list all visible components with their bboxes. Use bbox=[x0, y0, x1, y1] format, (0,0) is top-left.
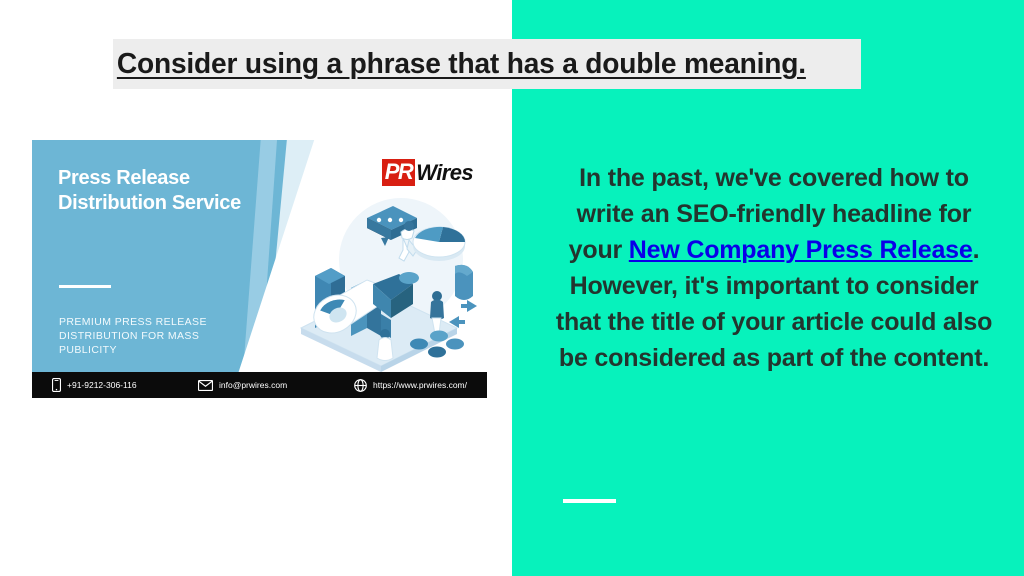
contact-email-text: info@prwires.com bbox=[219, 380, 287, 390]
body-paragraph: In the past, we've covered how to write … bbox=[548, 160, 1000, 376]
accent-divider bbox=[563, 499, 616, 503]
logo-wordmark: Wires bbox=[416, 162, 473, 184]
contact-phone: +91-9212-306-116 bbox=[52, 378, 137, 392]
banner-rule bbox=[59, 285, 111, 288]
slide-canvas: Consider using a phrase that has a doubl… bbox=[0, 0, 1024, 576]
megaphone-analytics-illustration bbox=[281, 188, 481, 372]
new-company-press-release-link[interactable]: New Company Press Release bbox=[629, 236, 973, 264]
press-release-banner-image: Press Release Distribution Service PREMI… bbox=[32, 140, 487, 398]
logo-mark: PR bbox=[382, 159, 416, 186]
contact-phone-text: +91-9212-306-116 bbox=[67, 380, 137, 390]
banner-contact-bar: +91-9212-306-116 info@prwires.com https:… bbox=[32, 372, 487, 398]
contact-website-text: https://www.prwires.com/ bbox=[373, 380, 467, 390]
globe-icon bbox=[354, 379, 367, 392]
contact-website: https://www.prwires.com/ bbox=[354, 379, 467, 392]
banner-subtitle: PREMIUM PRESS RELEASE DISTRIBUTION FOR M… bbox=[59, 315, 259, 357]
page-title: Consider using a phrase that has a doubl… bbox=[113, 48, 806, 81]
page-title-highlight: Consider using a phrase that has a doubl… bbox=[113, 39, 861, 89]
phone-icon bbox=[52, 378, 61, 392]
contact-email: info@prwires.com bbox=[198, 380, 287, 391]
prwires-logo: PR Wires bbox=[382, 159, 473, 186]
banner-headline: Press Release Distribution Service bbox=[58, 166, 268, 216]
envelope-icon bbox=[198, 380, 213, 391]
